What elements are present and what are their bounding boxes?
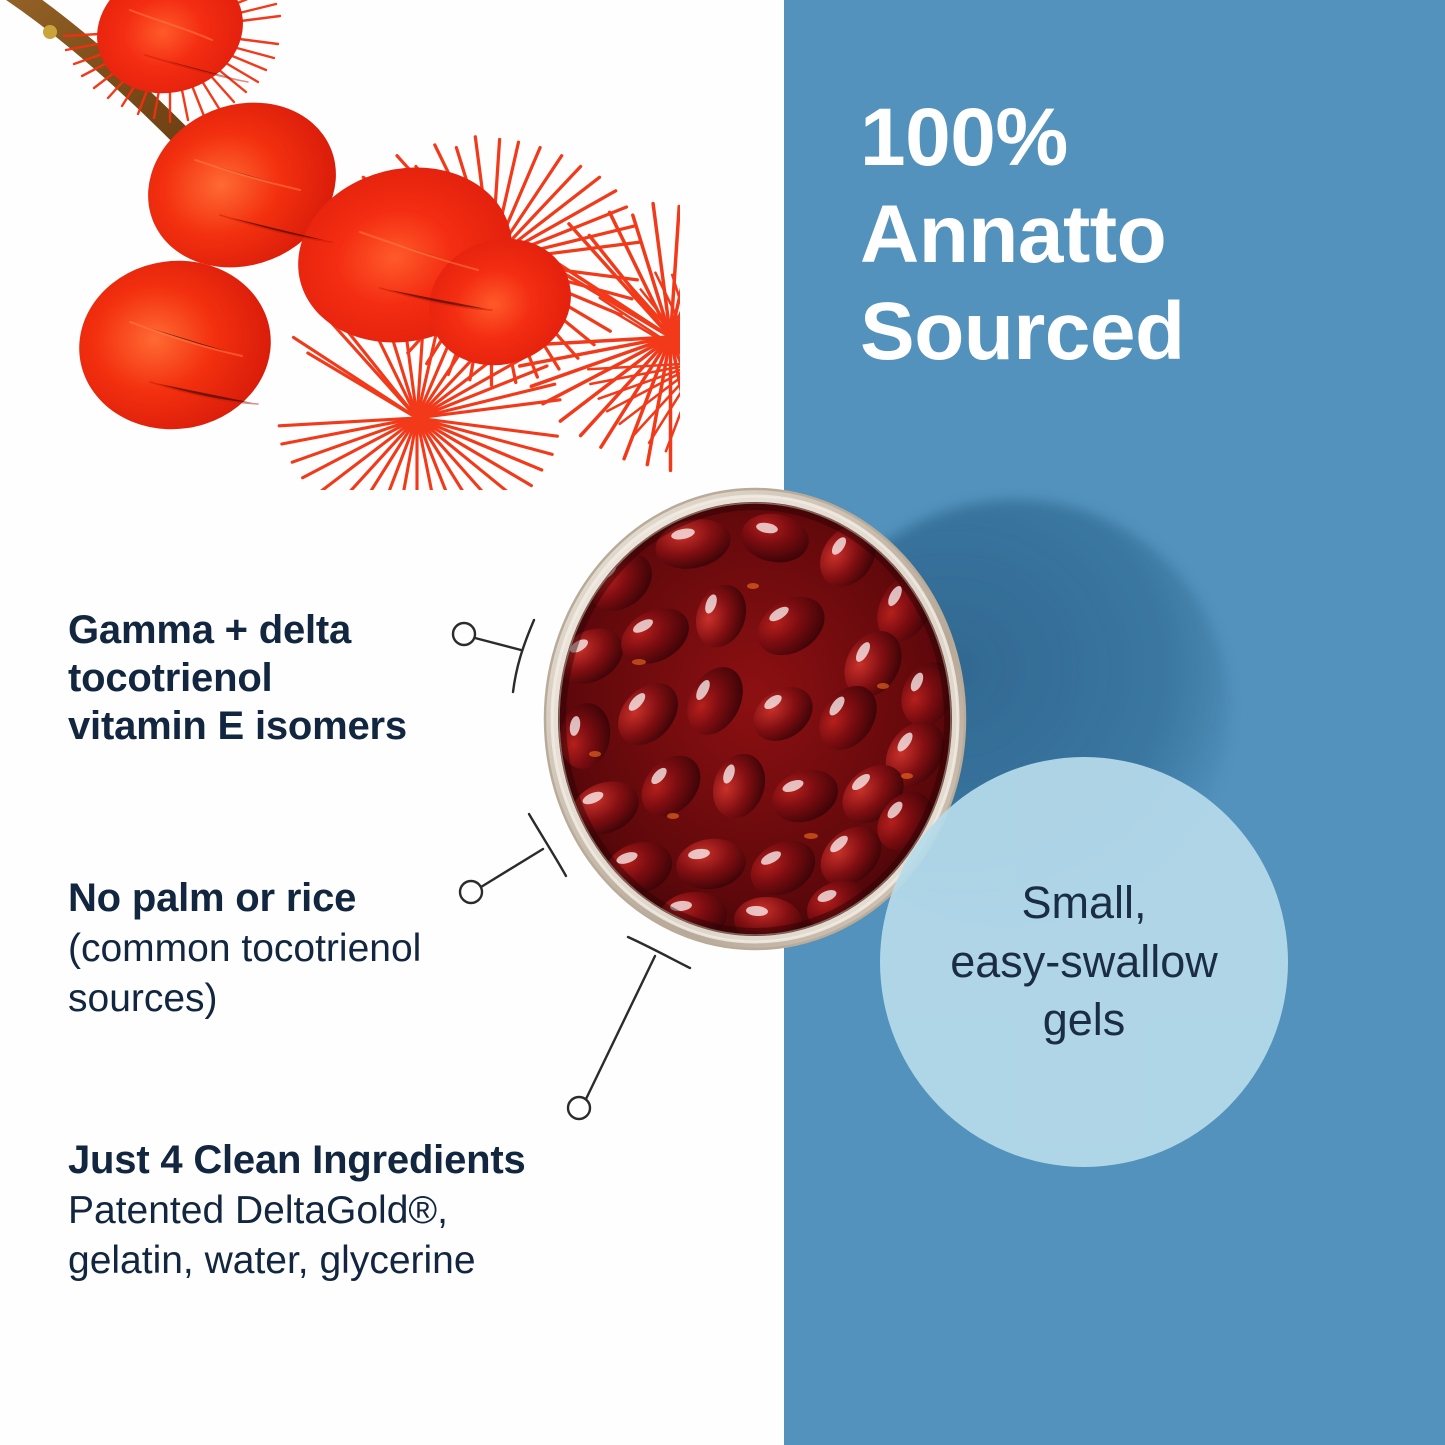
- callout-just-4-clean-ingredients: Just 4 Clean Ingredients Patented DeltaG…: [68, 1136, 526, 1286]
- callout-1-title: Gamma + delta tocotrienol vitamin E isom…: [68, 606, 407, 750]
- callout-gamma-delta-tocotrienol: Gamma + delta tocotrienol vitamin E isom…: [68, 606, 407, 750]
- callout-3-sub-line-1: Patented DeltaGold®,: [68, 1186, 526, 1236]
- callout-2-sub-line-1: (common tocotrienol: [68, 924, 421, 974]
- callout-1-title-line-1: Gamma + delta: [68, 606, 407, 654]
- headline-line-1: 100%: [860, 90, 1420, 187]
- headline: 100% Annatto Sourced: [860, 90, 1420, 380]
- callout-2-title: No palm or rice: [68, 874, 421, 922]
- badge-line-1: Small,: [950, 874, 1218, 933]
- headline-line-3: Sourced: [860, 284, 1420, 381]
- headline-line-2: Annatto: [860, 187, 1420, 284]
- callout-3-sub-line-2: gelatin, water, glycerine: [68, 1236, 526, 1286]
- easy-swallow-badge-text: Small, easy-swallow gels: [950, 874, 1218, 1050]
- badge-line-3: gels: [950, 991, 1218, 1050]
- product-infographic: 100% Annatto Sourced: [0, 0, 1445, 1445]
- callout-3-subtitle: Patented DeltaGold®, gelatin, water, gly…: [68, 1186, 526, 1286]
- badge-line-2: easy-swallow: [950, 933, 1218, 992]
- callout-1-title-line-2: tocotrienol: [68, 654, 407, 702]
- callout-3-title: Just 4 Clean Ingredients: [68, 1136, 526, 1184]
- callout-2-sub-line-2: sources): [68, 974, 421, 1024]
- callout-2-title-line-1: No palm or rice: [68, 874, 421, 922]
- easy-swallow-badge: Small, easy-swallow gels: [880, 757, 1288, 1167]
- callout-3-title-line-1: Just 4 Clean Ingredients: [68, 1136, 526, 1184]
- callout-1-title-line-3: vitamin E isomers: [68, 702, 407, 750]
- callout-no-palm-or-rice: No palm or rice (common tocotrienol sour…: [68, 874, 421, 1024]
- callout-2-subtitle: (common tocotrienol sources): [68, 924, 421, 1024]
